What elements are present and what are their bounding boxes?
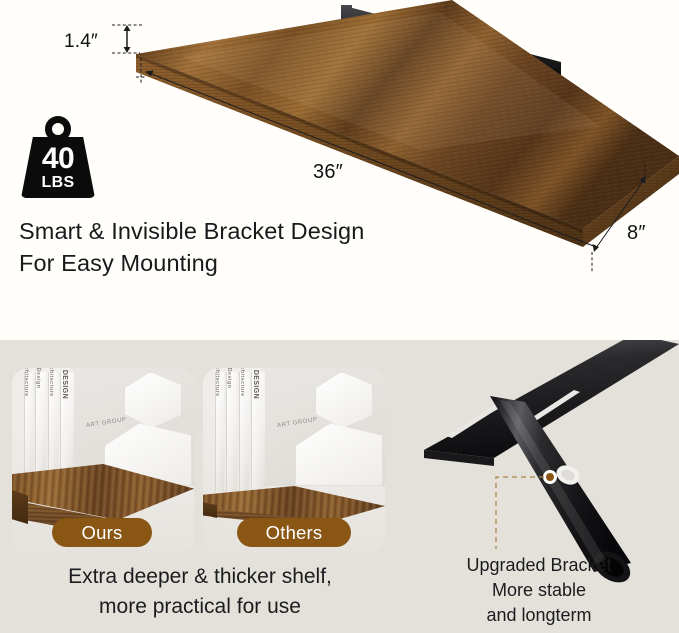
book: Architecture	[48, 372, 58, 486]
book-title: RE DESIGN	[252, 368, 259, 399]
book: Architecture	[215, 372, 224, 492]
badge-ours: Ours	[52, 518, 152, 547]
book: Design	[226, 372, 237, 496]
product-infographic: 40 LBS 1.4″ 36″ 8″ Smart & Invisible Bra…	[0, 0, 679, 633]
hero-section: 40 LBS 1.4″ 36″ 8″ Smart & Invisible Bra…	[0, 0, 679, 340]
bracket-caption: Upgraded Bracket More stable and longter…	[412, 553, 666, 627]
book-title: Architecture	[23, 368, 29, 397]
headline-line-2: For Easy Mounting	[19, 248, 459, 280]
badge-others: Others	[237, 518, 351, 547]
book-title: Design	[35, 368, 41, 388]
dimension-length-label: 36″	[313, 161, 343, 184]
weight-value: 40	[21, 144, 95, 174]
bracket-caption-line-1: Upgraded Bracket	[412, 553, 666, 578]
others-book-stack: Architecture Design Architecture RE DESI…	[215, 372, 301, 498]
book-title: Architecture	[48, 368, 54, 397]
comparison-caption-line-2: more practical for use	[4, 592, 396, 622]
book: Architecture	[24, 372, 33, 484]
bracket-caption-line-3: and longterm	[412, 603, 666, 628]
book-title: RE DESIGN	[61, 368, 68, 399]
hero-headline: Smart & Invisible Bracket Design For Eas…	[19, 216, 459, 280]
headline-line-1: Smart & Invisible Bracket Design	[19, 216, 459, 248]
book-title: Design	[226, 368, 232, 388]
shelf-board	[136, 0, 679, 247]
ours-slab-end	[12, 490, 28, 524]
weight-capacity-icon: 40 LBS	[21, 116, 95, 198]
book-title: Architecture	[239, 368, 245, 397]
mounting-bracket-illustration	[341, 5, 561, 102]
dimension-thickness-label: 1.4″	[64, 31, 98, 53]
book: RE DESIGN	[251, 372, 265, 498]
comparison-caption-line-1: Extra deeper & thicker shelf,	[4, 562, 396, 592]
weight-unit: LBS	[21, 175, 95, 191]
comparison-caption: Extra deeper & thicker shelf, more pract…	[4, 562, 396, 622]
bracket-caption-line-2: More stable	[412, 578, 666, 603]
book-title: Architecture	[214, 368, 220, 397]
dimension-depth-label: 8″	[627, 222, 646, 245]
book: Architecture	[239, 372, 249, 494]
